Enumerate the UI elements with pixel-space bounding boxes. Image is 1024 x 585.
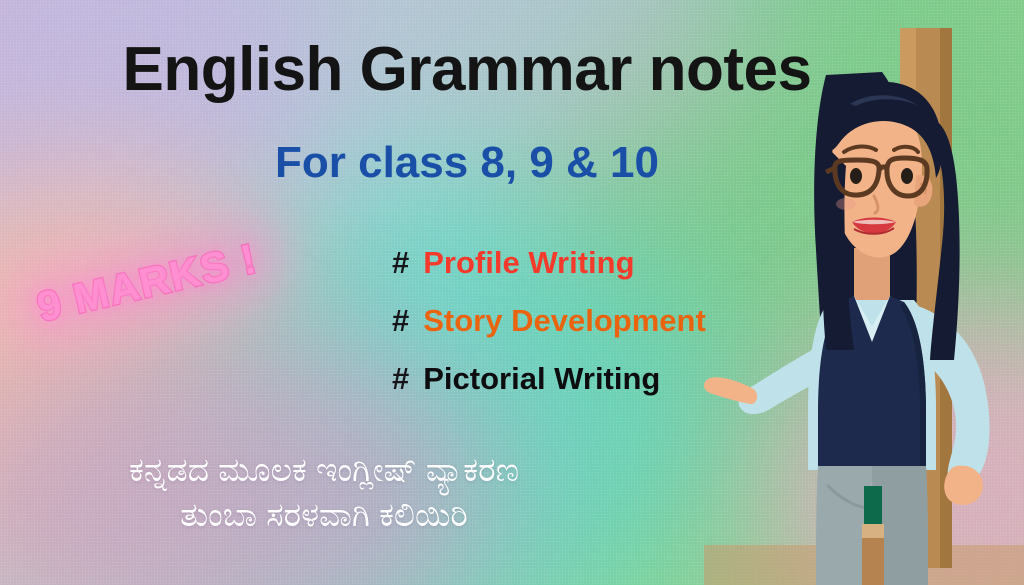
hash-icon: # bbox=[392, 361, 409, 397]
list-item: # Story Development bbox=[392, 303, 812, 361]
kannada-caption: ಕನ್ನಡದ ಮೂಲಕ ಇಂಗ್ಲೀಷ್ ವ್ಯಾಕರಣ ತುಂಬಾ ಸರಳವಾ… bbox=[14, 448, 634, 537]
caption-line-2: ತುಂಬಾ ಸರಳವಾಗಿ ಕಲಿಯಿರಿ bbox=[14, 493, 634, 538]
caption-line-1: ಕನ್ನಡದ ಮೂಲಕ ಇಂಗ್ಲೀಷ್ ವ್ಯಾಕರಣ bbox=[14, 448, 634, 493]
topic-label: Story Development bbox=[423, 303, 706, 339]
page-subtitle: For class 8, 9 & 10 bbox=[0, 138, 1024, 188]
list-item: # Profile Writing bbox=[392, 245, 812, 303]
hash-icon: # bbox=[392, 303, 409, 339]
topic-label: Pictorial Writing bbox=[423, 361, 660, 397]
list-item: # Pictorial Writing bbox=[392, 361, 812, 419]
poster-canvas: English Grammar notes For class 8, 9 & 1… bbox=[0, 0, 1024, 585]
topics-list: # Profile Writing # Story Development # … bbox=[392, 245, 812, 419]
page-title: English Grammar notes bbox=[0, 34, 1024, 105]
topic-label: Profile Writing bbox=[423, 245, 634, 281]
hash-icon: # bbox=[392, 245, 409, 281]
